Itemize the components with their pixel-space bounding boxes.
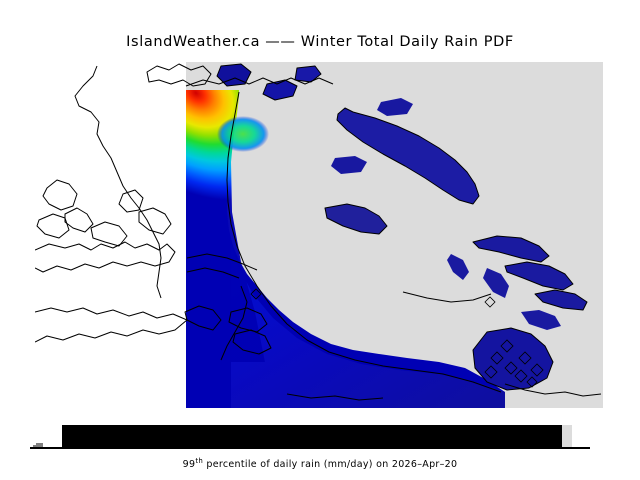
colorbar-axis-line: [30, 447, 590, 449]
map-canvas[interactable]: [35, 62, 603, 408]
outside-domain-region: [35, 62, 186, 408]
colorbar-gradient[interactable]: [62, 425, 562, 447]
caption-percentile-suffix: th: [195, 457, 203, 465]
inlet-high-blob: [217, 116, 269, 152]
map-panel[interactable]: [35, 62, 603, 408]
caption-rest: percentile of daily rain (mm/day) on 202…: [203, 459, 457, 470]
colorbar[interactable]: [62, 425, 579, 447]
page-title: IslandWeather.ca —— Winter Total Daily R…: [0, 34, 640, 50]
colorbar-under-cap-icon: [30, 443, 44, 449]
colorbar-over-cap: [562, 425, 572, 447]
caption-percentile-number: 99: [183, 459, 196, 470]
colorbar-caption: 99th percentile of daily rain (mm/day) o…: [0, 457, 640, 470]
